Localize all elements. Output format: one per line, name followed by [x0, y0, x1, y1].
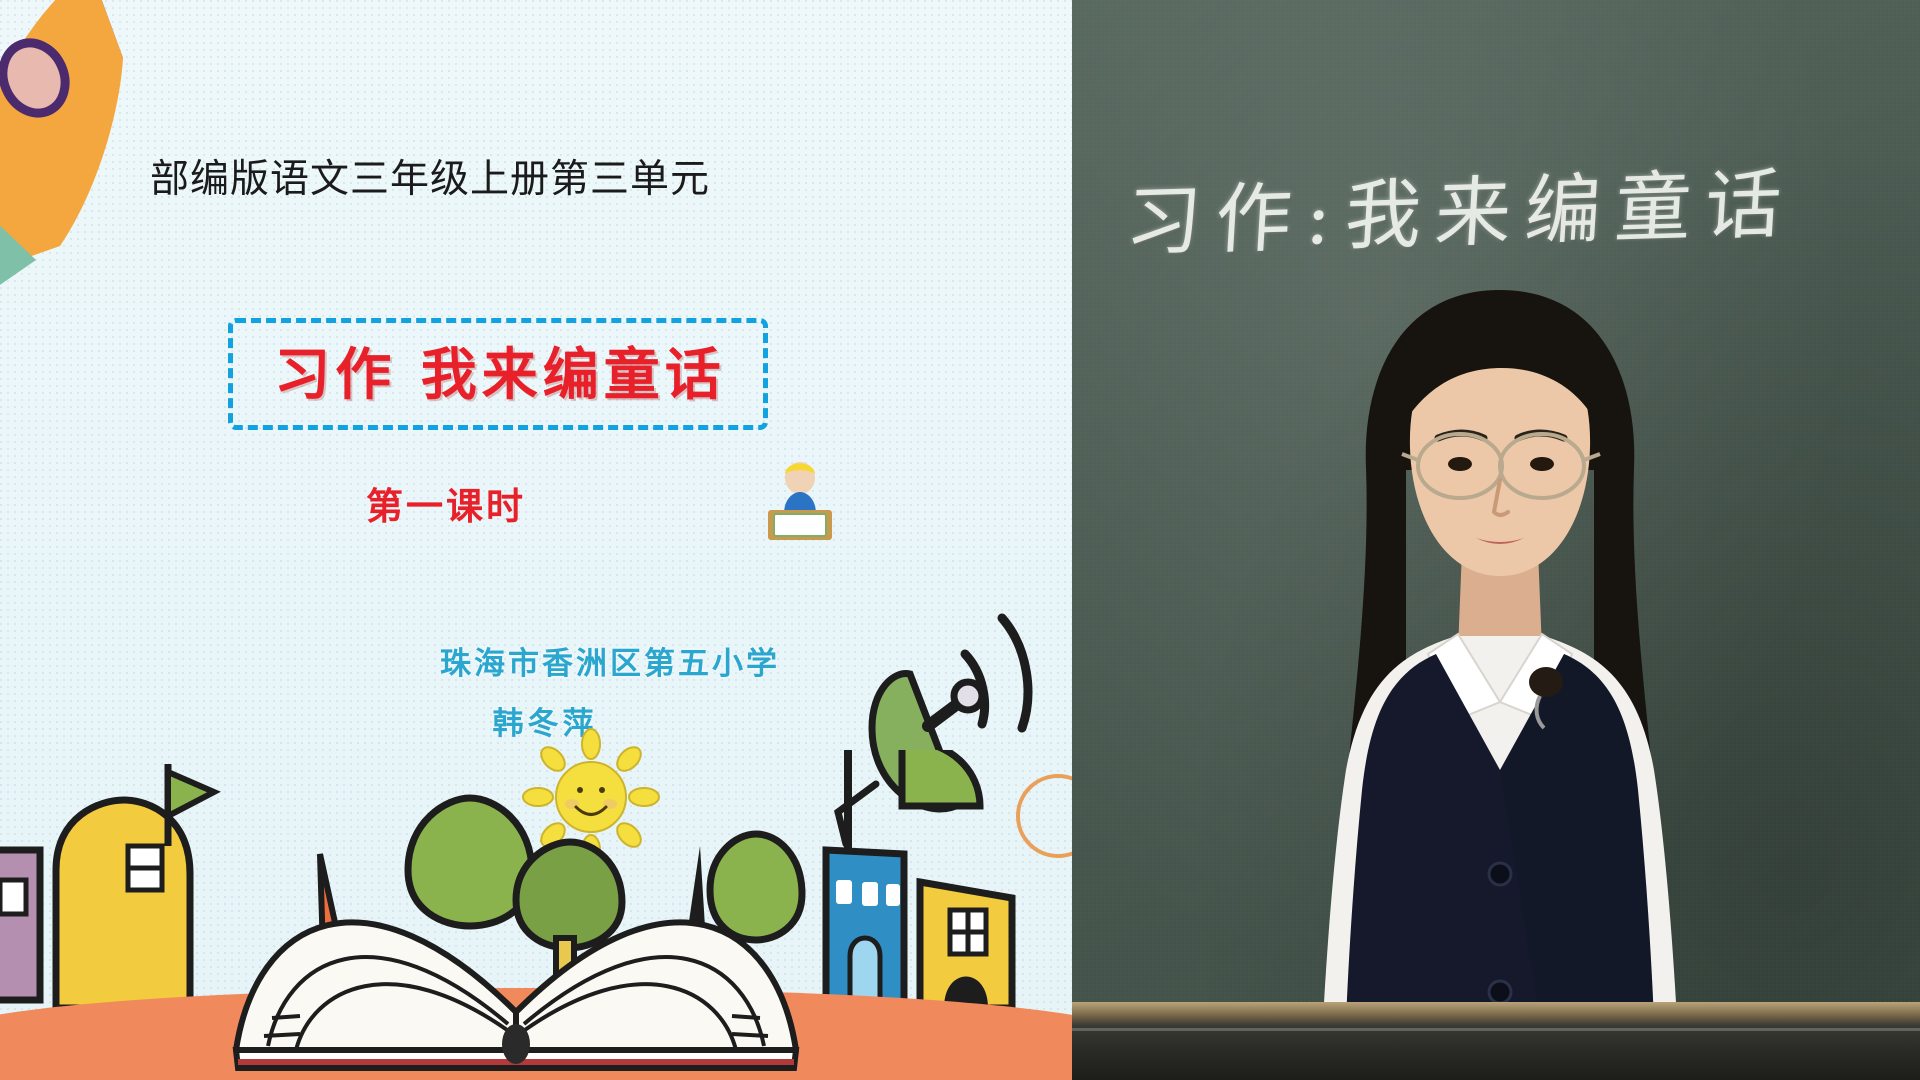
houses-illustration	[0, 764, 214, 1008]
presentation-slide: 部编版语文三年级上册第三单元 习作 我来编童话 第一课时 珠海市香洲区第五小学 …	[0, 0, 1072, 1080]
school-name: 珠海市香洲区第五小学	[330, 638, 890, 683]
boy-reading-icon	[760, 452, 840, 542]
teacher-figure	[1250, 250, 1750, 1080]
lesson-title: 习作 我来编童话	[236, 330, 764, 411]
lesson-screen: 部编版语文三年级上册第三单元 习作 我来编童话 第一课时 珠海市香洲区第五小学 …	[0, 0, 1920, 1080]
unit-heading: 部编版语文三年级上册第三单元	[150, 148, 710, 204]
vest-button	[1489, 981, 1511, 1003]
bottom-scene-illustration	[0, 750, 1072, 1080]
lesson-period: 第一课时	[236, 476, 656, 530]
classroom-video-panel: 习作:我来编童话	[1072, 0, 1920, 1080]
lapel-microphone	[1529, 667, 1563, 697]
blackboard-ledge	[1072, 1002, 1920, 1080]
vest-button	[1489, 863, 1511, 885]
rocket-illustration	[0, 0, 178, 290]
buildings-illustration	[826, 750, 1072, 1008]
